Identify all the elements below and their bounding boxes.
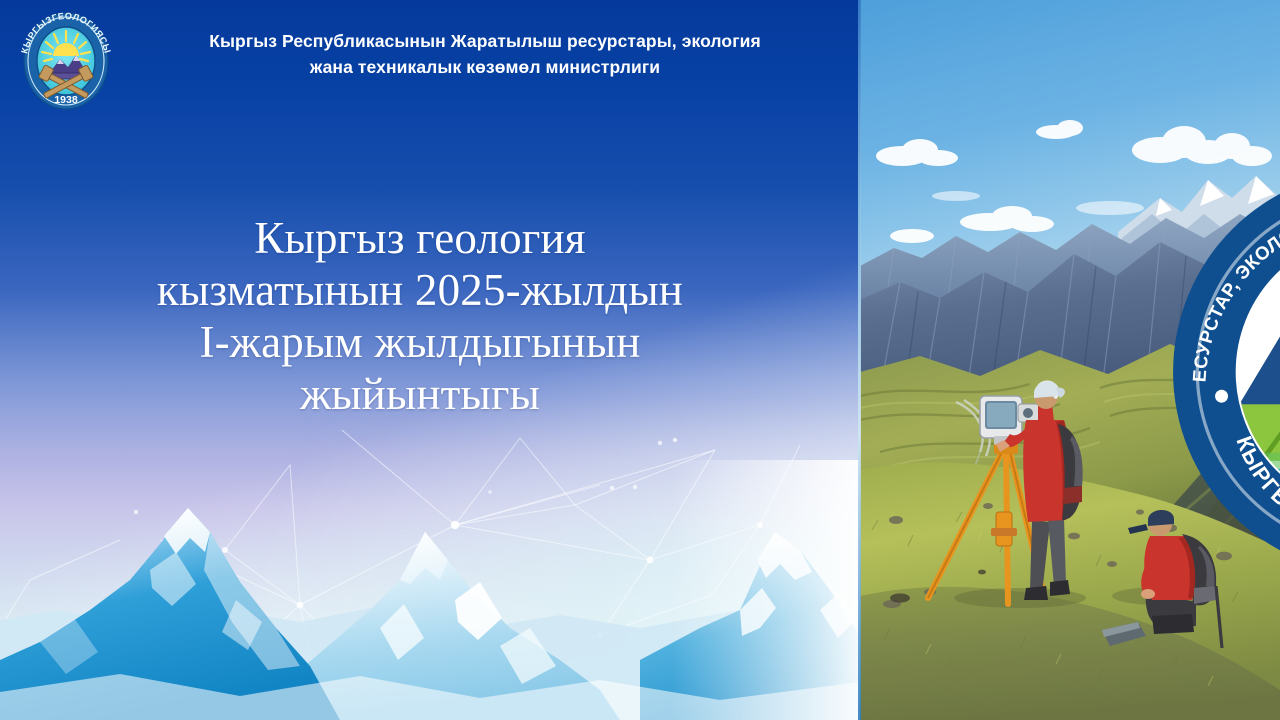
title-line-2: кызматынын 2025-жылдын [40, 264, 800, 316]
seal-year: 1938 [54, 94, 78, 106]
field-survey-photo: ЖАРАТЫЛЫШ РЕСУРСТАР, ЭКОЛОГИЯ ЖАНА ТЕХНИ… [860, 0, 1280, 720]
title-line-1: Кыргыз геология [40, 212, 800, 264]
page-title: Кыргыз геология кызматынын 2025-жылдын I… [40, 212, 800, 420]
header-band: КЫРГЫЗГЕОЛОГИЯСЫ 1938 Кыргыз Республикас… [0, 0, 860, 118]
title-slide: КЫРГЫЗГЕОЛОГИЯСЫ 1938 Кыргыз Республикас… [0, 0, 1280, 720]
ministry-title: Кыргыз Республикасынын Жаратылыш ресурст… [160, 28, 810, 80]
kyrgyzgeology-seal-icon: КЫРГЫЗГЕОЛОГИЯСЫ 1938 [12, 11, 120, 111]
title-line-3: I-жарым жылдыгынын [40, 316, 800, 368]
snow-capped-mountains-graphic [0, 460, 860, 720]
title-line-4: жыйынтыгы [40, 368, 800, 420]
photo-left-edge-divider [858, 0, 861, 720]
ministry-title-line-2: жана техникалык көзөмөл министрлиги [160, 54, 810, 80]
ministry-title-line-1: Кыргыз Республикасынын Жаратылыш ресурст… [160, 28, 810, 54]
ministry-emblem-icon: ЖАРАТЫЛЫШ РЕСУРСТАР, ЭКОЛОГИЯ ЖАНА ТЕХНИ… [1165, 12, 1280, 720]
left-content-panel: КЫРГЫЗГЕОЛОГИЯСЫ 1938 Кыргыз Республикас… [0, 0, 860, 720]
